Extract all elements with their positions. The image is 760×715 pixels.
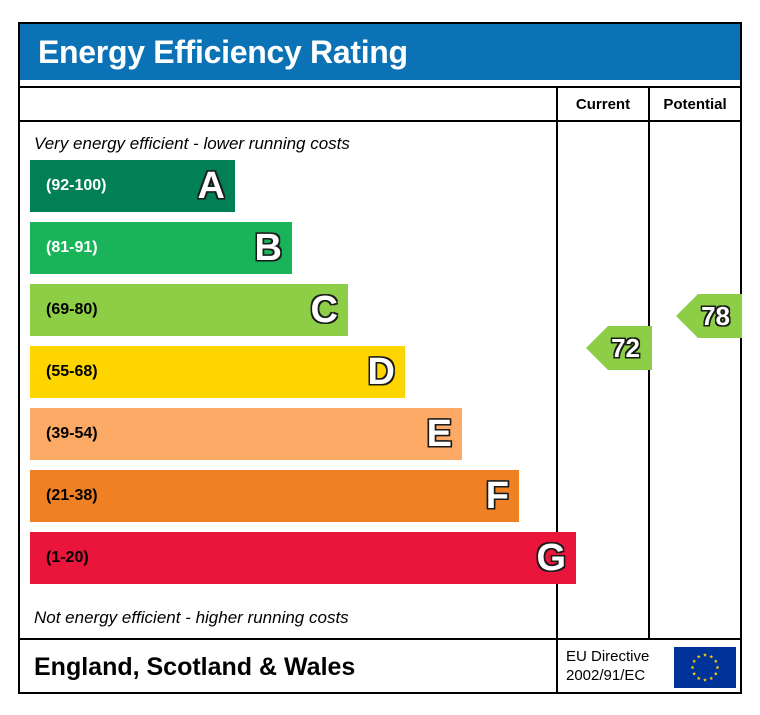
- footer-region-label: England, Scotland & Wales: [34, 640, 355, 694]
- band-letter-d: D: [368, 353, 395, 391]
- rating-value-current: 72: [611, 335, 640, 361]
- band-letter-b: B: [255, 229, 282, 267]
- caption-inefficient: Not energy efficient - higher running co…: [34, 608, 349, 628]
- rating-band-e: (39-54)E: [30, 408, 462, 460]
- band-range-a: (92-100): [30, 177, 106, 195]
- band-range-b: (81-91): [30, 239, 98, 257]
- energy-efficiency-rating-certificate: Energy Efficiency Rating Current Potenti…: [0, 0, 760, 715]
- band-range-f: (21-38): [30, 487, 98, 505]
- band-range-d: (55-68): [30, 363, 98, 381]
- band-letter-c: C: [311, 291, 338, 329]
- rating-band-f: (21-38)F: [30, 470, 519, 522]
- rating-band-c: (69-80)C: [30, 284, 348, 336]
- band-letter-g: G: [536, 539, 566, 577]
- certificate-frame: Energy Efficiency Rating Current Potenti…: [18, 22, 742, 694]
- caption-efficient: Very energy efficient - lower running co…: [34, 134, 350, 154]
- rating-band-a: (92-100)A: [30, 160, 235, 212]
- column-header-potential: Potential: [648, 88, 740, 120]
- band-range-c: (69-80): [30, 301, 98, 319]
- column-header-row: Current Potential: [20, 86, 740, 122]
- title-bar: Energy Efficiency Rating: [20, 24, 740, 80]
- chart-body: Very energy efficient - lower running co…: [20, 122, 740, 640]
- eu-flag-icon: [674, 647, 736, 688]
- eu-directive-line1: EU Directive: [566, 648, 649, 667]
- band-letter-f: F: [486, 477, 509, 515]
- rating-arrow-potential: 78: [676, 294, 742, 338]
- eu-directive-line2: 2002/91/EC: [566, 667, 645, 686]
- rating-band-d: (55-68)D: [30, 346, 405, 398]
- rating-band-b: (81-91)B: [30, 222, 292, 274]
- band-range-e: (39-54): [30, 425, 98, 443]
- rating-arrow-current: 72: [586, 326, 652, 370]
- divider-potential: [648, 122, 650, 638]
- band-letter-e: E: [427, 415, 452, 453]
- band-letter-a: A: [198, 167, 225, 205]
- band-range-g: (1-20): [30, 549, 89, 567]
- eu-directive-label: EU Directive 2002/91/EC: [556, 640, 670, 694]
- rating-value-potential: 78: [701, 303, 730, 329]
- column-header-current: Current: [556, 88, 648, 120]
- rating-band-g: (1-20)G: [30, 532, 576, 584]
- footer: England, Scotland & Wales EU Directive 2…: [20, 640, 740, 694]
- page-title: Energy Efficiency Rating: [20, 34, 408, 71]
